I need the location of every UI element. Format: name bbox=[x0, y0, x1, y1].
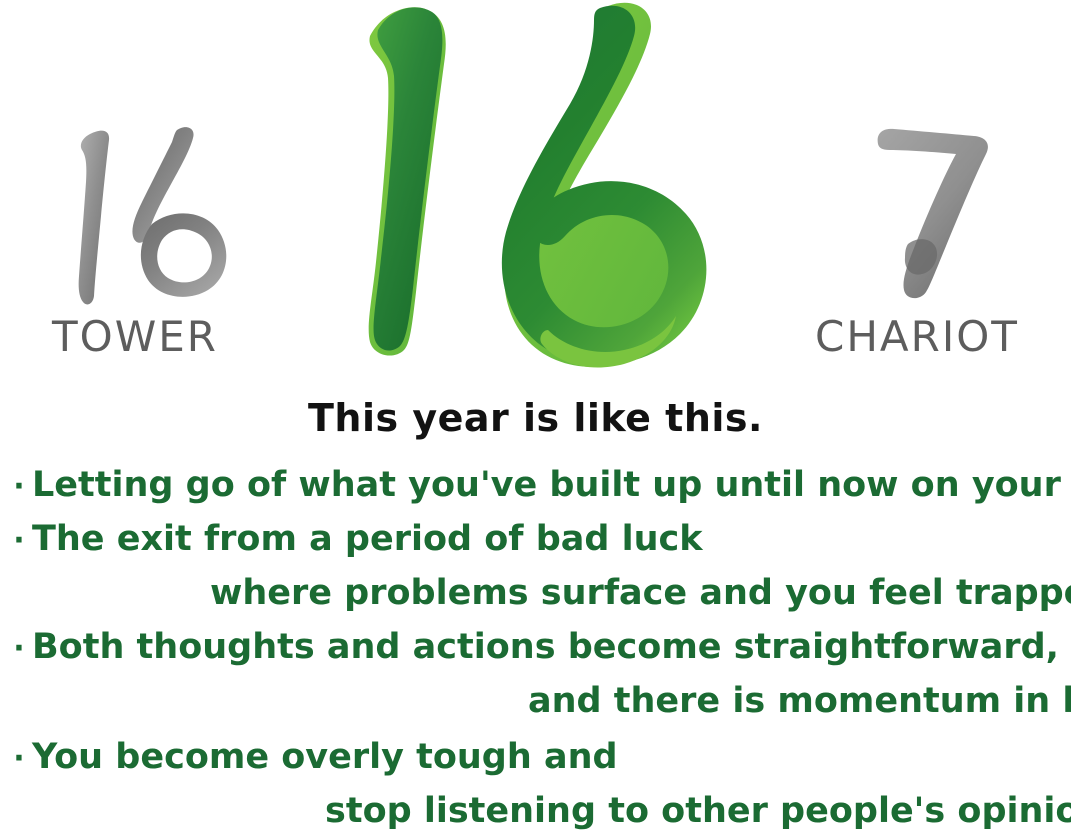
card-label-chariot: CHARIOT bbox=[815, 312, 1019, 361]
list-item-label: Both thoughts and actions become straigh… bbox=[32, 627, 1059, 667]
list-item: ·The exit from a period of bad luck bbox=[0, 512, 1071, 566]
list-item: ·You become overly tough and bbox=[0, 730, 1071, 784]
bullet-marker-icon: · bbox=[6, 732, 32, 786]
bullet-marker-icon: · bbox=[6, 460, 32, 514]
list-item-label: where problems surface and you feel trap… bbox=[210, 573, 1071, 613]
brush-numeral-16-gray-icon bbox=[60, 120, 260, 315]
list-item-continuation: where problems surface and you feel trap… bbox=[0, 566, 1071, 620]
card-label-tower: TOWER bbox=[52, 312, 218, 361]
list-item-continuation: stop listening to other people's opinion… bbox=[0, 784, 1071, 838]
headline-text: This year is like this. bbox=[0, 396, 1071, 440]
list-item: ·Both thoughts and actions become straig… bbox=[0, 620, 1071, 674]
bullet-marker-icon: · bbox=[6, 514, 32, 568]
list-item-label: stop listening to other people's opinion… bbox=[325, 791, 1071, 831]
list-item-label: and there is momentum in life. bbox=[528, 681, 1071, 721]
bullet-marker-icon: · bbox=[6, 622, 32, 676]
list-item-label: The exit from a period of bad luck bbox=[32, 519, 703, 559]
list-item: ·Letting go of what you've built up unti… bbox=[0, 458, 1071, 512]
list-item-label: Letting go of what you've built up until… bbox=[32, 465, 1071, 505]
list-item-label: You become overly tough and bbox=[32, 737, 618, 777]
brush-numeral-7-gray-icon bbox=[860, 120, 1005, 305]
brush-numeral-16-green-icon bbox=[352, 0, 752, 385]
description-list: ·Letting go of what you've built up unti… bbox=[0, 458, 1071, 838]
list-item-continuation: and there is momentum in life. bbox=[0, 674, 1071, 728]
